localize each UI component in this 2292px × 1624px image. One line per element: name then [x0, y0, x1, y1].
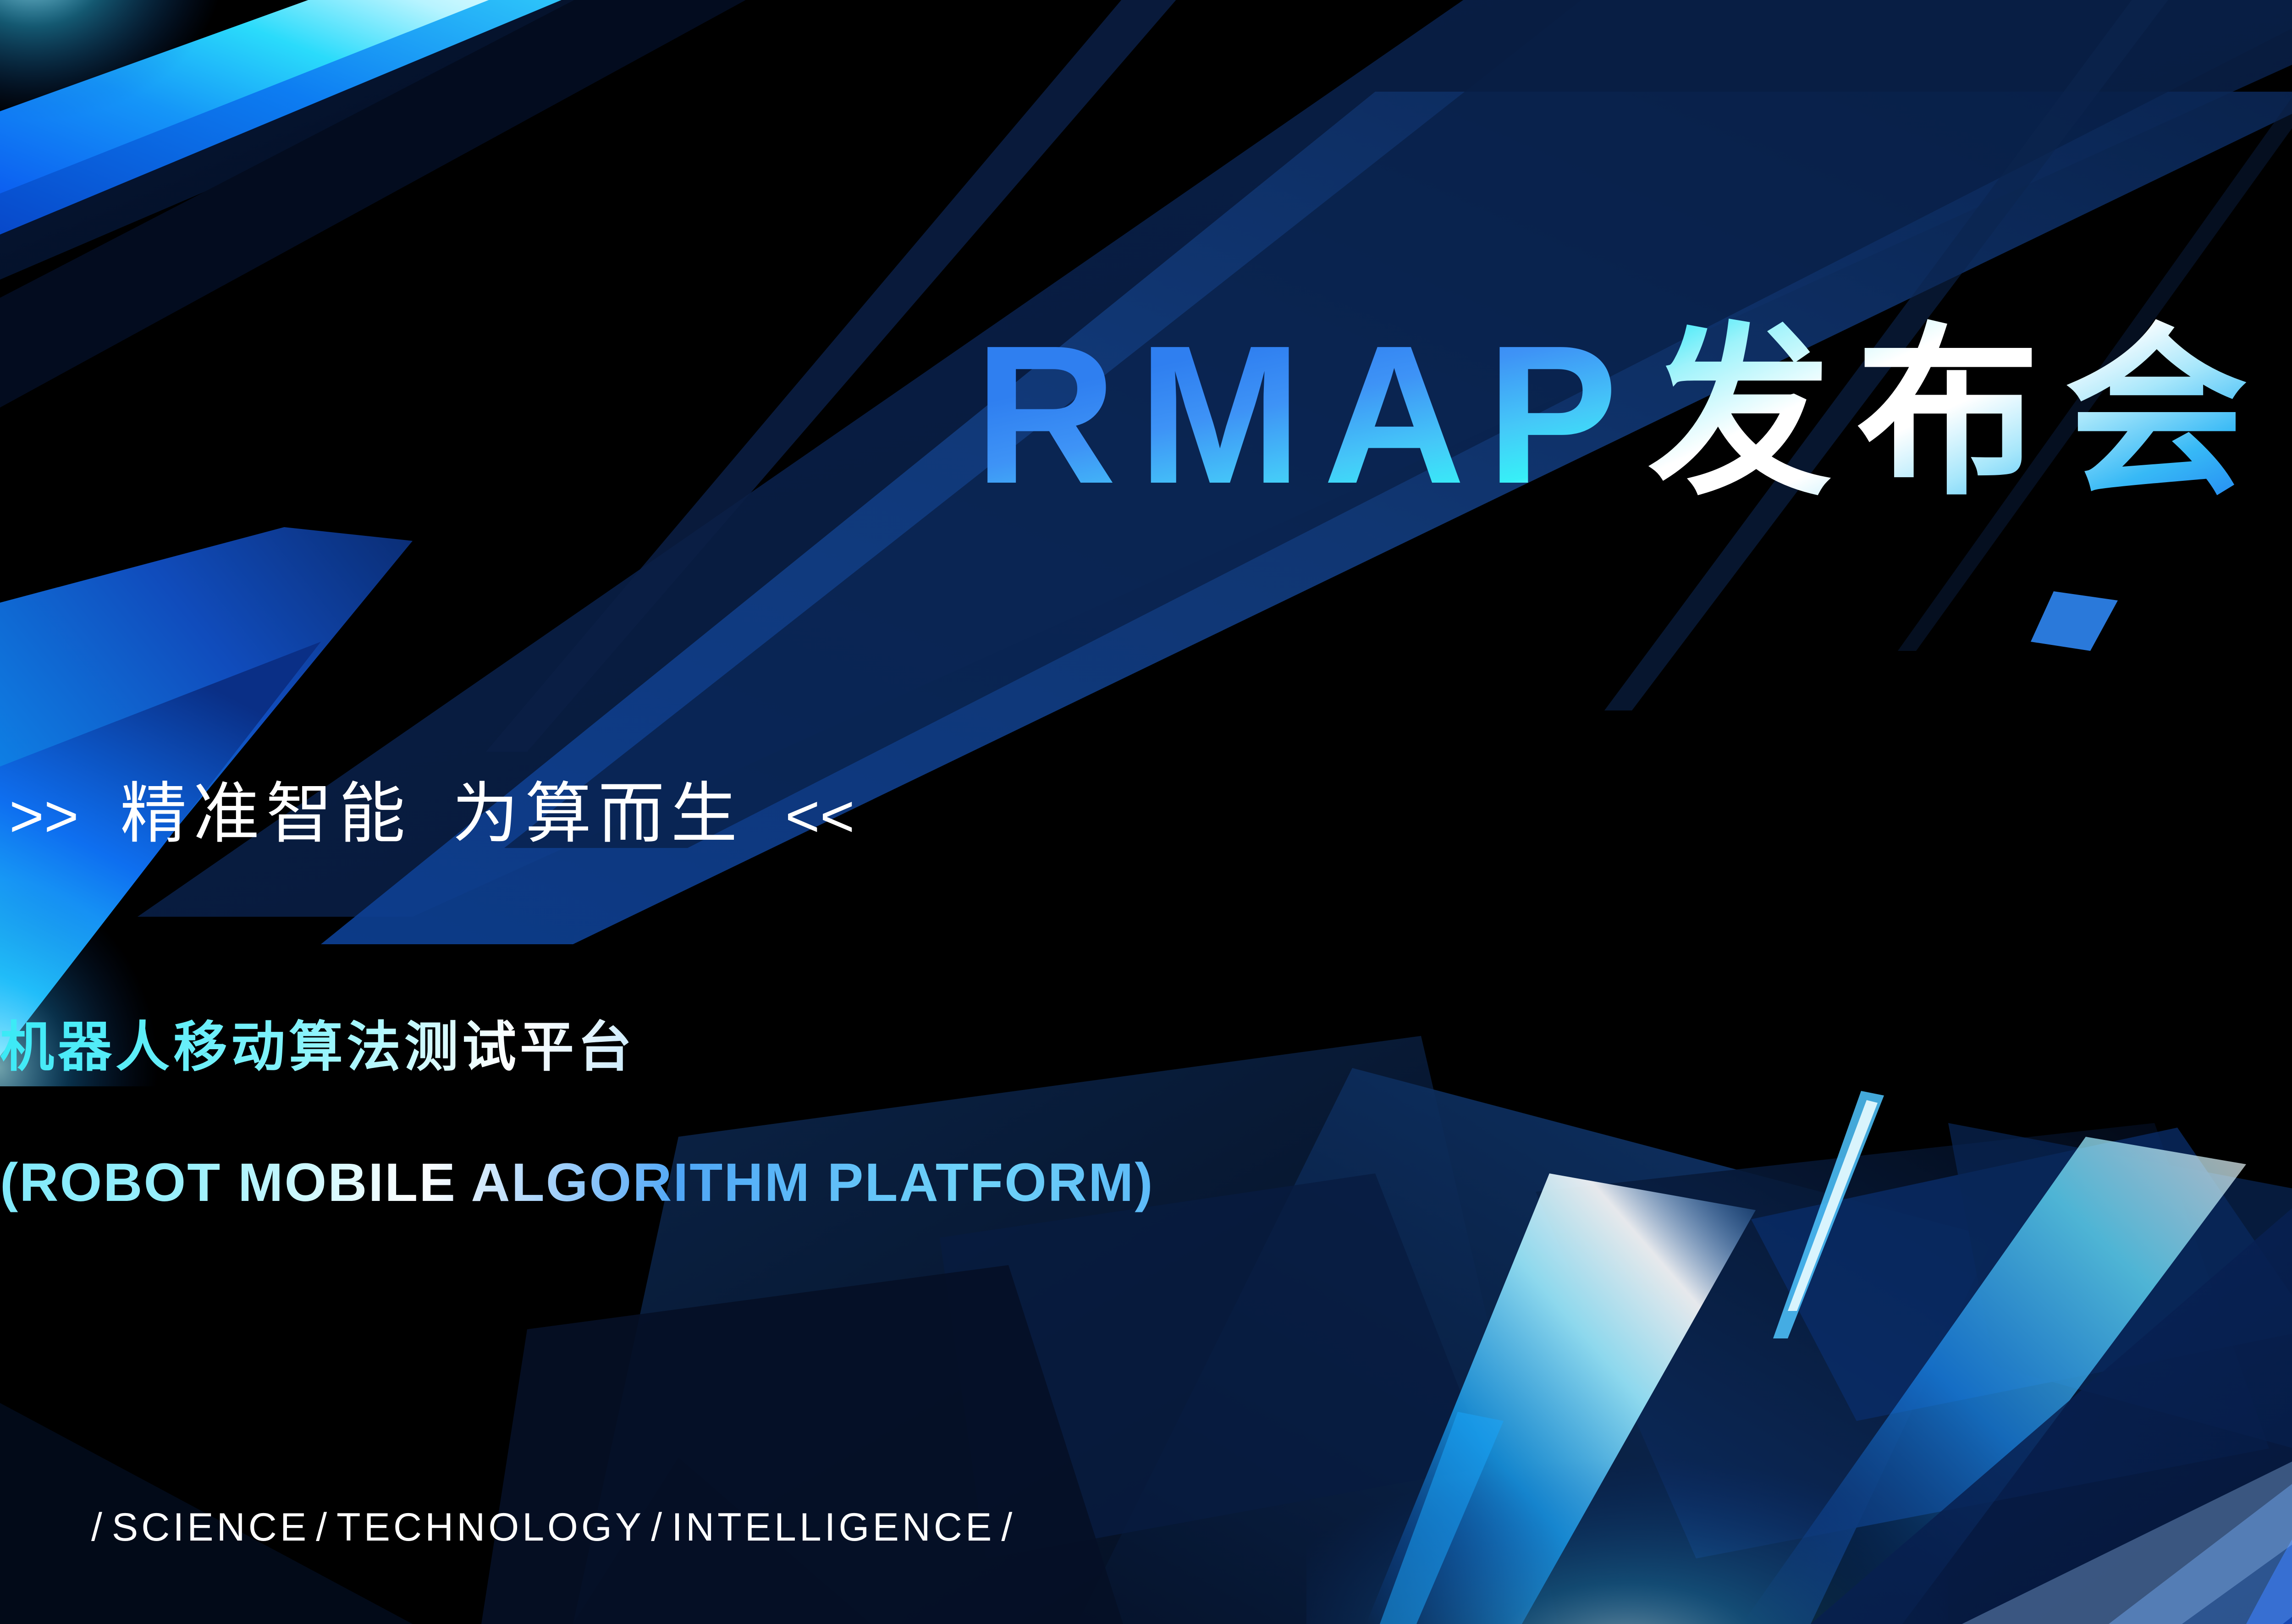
footer-keyword-science: SCIENCE: [112, 1505, 309, 1549]
title-latin: RMAP: [974, 316, 1643, 513]
tagline-right-chevron: <<: [776, 782, 864, 849]
tagline-left-chevron: >>: [0, 782, 88, 849]
platform-name-chinese: 机器人移动算法测试平台: [0, 1015, 2292, 1080]
footer-slash-3: /: [995, 1505, 1022, 1549]
platform-name-english: (ROBOT MOBILE ALGORITHM PLATFORM): [0, 1151, 2292, 1216]
title-cjk: 发布会: [1644, 316, 2273, 511]
footer-slash-2: /: [645, 1505, 672, 1549]
footer-slash-0: /: [85, 1505, 112, 1549]
main-title: RMAP 发布会: [0, 316, 2292, 513]
tagline-phrase-a: 精准智能: [112, 776, 420, 851]
tagline: >> 精准智能 为算而生 <<: [0, 772, 2292, 855]
tagline-phrase-b: 为算而生: [444, 776, 752, 851]
footer-slash-1: /: [309, 1505, 336, 1549]
poster-canvas: 上海机器人产业技术研究院 SHANGHAI ROBOT INDUSTRIAL T…: [0, 0, 2292, 1624]
footer-keyword-intelligence: INTELLIGENCE: [672, 1505, 995, 1549]
footer-keywords: /SCIENCE/TECHNOLOGY/INTELLIGENCE/: [85, 1506, 1022, 1549]
footer-keyword-technology: TECHNOLOGY: [336, 1505, 645, 1549]
